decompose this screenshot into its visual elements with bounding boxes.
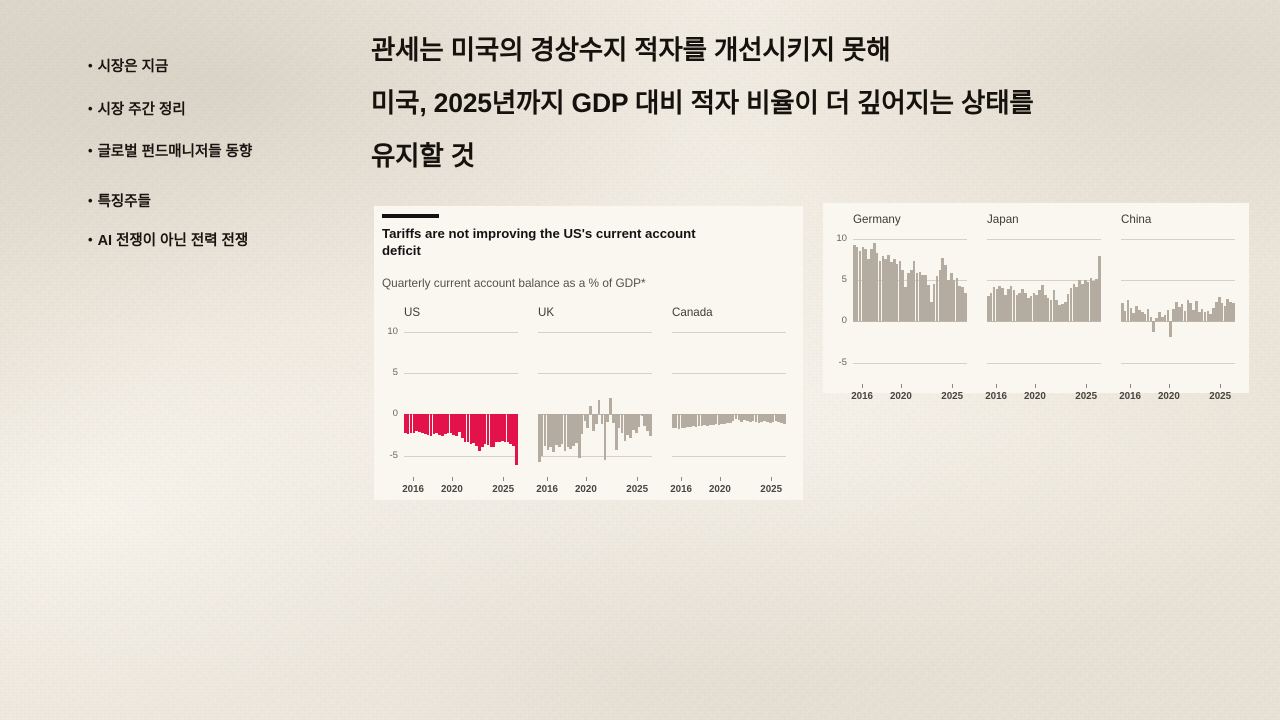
chart-bar	[598, 400, 601, 415]
agenda-bullet-item[interactable]: •시장 주간 정리	[88, 101, 186, 119]
chart-x-tick	[413, 477, 414, 481]
chart-x-tick	[1086, 384, 1087, 388]
headline-line: 미국, 2025년까지 GDP 대비 적자 비율이 더 깊어지는 상태를	[371, 77, 1201, 130]
chart-plot-area	[672, 324, 786, 472]
chart-subtitle: Quarterly current account balance as a %…	[382, 276, 646, 291]
chart-y-tick-label: -5	[378, 451, 398, 461]
chart-x-tick-label: 2016	[851, 391, 873, 402]
chart-card-current-account: Tariffs are not improving the US's curre…	[374, 206, 803, 500]
chart-bar-series	[672, 324, 786, 472]
chart-bar	[1232, 303, 1235, 322]
chart-bar	[1167, 310, 1170, 322]
chart-x-tick	[771, 477, 772, 481]
slide-headline: 관세는 미국의 경상수지 적자를 개선시키지 못해미국, 2025년까지 GDP…	[371, 24, 1201, 183]
agenda-bullet-label: 글로벌 펀드매니저들 동향	[98, 143, 253, 161]
chart-panel-title: US	[404, 306, 420, 320]
chart-panel: Canada201620202025	[672, 306, 786, 484]
chart-x-tick	[720, 477, 721, 481]
chart-x-tick-label: 2020	[709, 484, 731, 495]
chart-bar	[1098, 256, 1101, 322]
chart-bar-series	[1121, 231, 1235, 379]
chart-x-tick	[901, 384, 902, 388]
chart-x-tick-label: 2016	[1119, 391, 1141, 402]
chart-bar	[586, 414, 589, 427]
chart-x-tick-label: 2020	[890, 391, 912, 402]
chart-x-tick-label: 2016	[670, 484, 692, 495]
chart-panel: China201620202025	[1121, 213, 1235, 391]
chart-x-tick	[952, 384, 953, 388]
chart-x-tick-label: 2020	[441, 484, 463, 495]
chart-x-tick-label: 2025	[492, 484, 514, 495]
chart-x-tick	[1220, 384, 1221, 388]
chart-x-tick	[547, 477, 548, 481]
chart-x-tick	[1130, 384, 1131, 388]
chart-y-tick-label: 0	[827, 316, 847, 326]
chart-x-tick-label: 2020	[575, 484, 597, 495]
chart-x-tick	[503, 477, 504, 481]
chart-bar	[783, 414, 786, 424]
economist-rule	[382, 214, 439, 218]
chart-plot-area	[538, 324, 652, 472]
agenda-bullet-label: 시장 주간 정리	[98, 101, 186, 119]
chart-plot-area: 1050-5	[853, 231, 967, 379]
chart-x-tick-label: 2025	[1209, 391, 1231, 402]
chart-y-tick-label: -5	[827, 358, 847, 368]
chart-panel-title: China	[1121, 213, 1151, 227]
chart-bar	[589, 406, 592, 414]
chart-x-tick	[862, 384, 863, 388]
chart-x-tick-label: 2016	[985, 391, 1007, 402]
agenda-bullet-item[interactable]: •특징주들	[88, 193, 151, 211]
chart-x-tick	[637, 477, 638, 481]
chart-bar	[638, 414, 641, 426]
chart-y-tick-label: 0	[378, 409, 398, 419]
chart-bar-series	[987, 231, 1101, 379]
bullet-dot-icon: •	[88, 193, 93, 209]
chart-panel: Japan201620202025	[987, 213, 1101, 391]
chart-y-tick-label: 10	[378, 327, 398, 337]
chart-x-tick-label: 2016	[402, 484, 424, 495]
bullet-dot-icon: •	[88, 101, 93, 117]
chart-bar-series	[538, 324, 652, 472]
chart-x-tick-label: 2025	[1075, 391, 1097, 402]
chart-y-tick-label: 10	[827, 234, 847, 244]
agenda-bullet-label: AI 전쟁이 아닌 전력 전쟁	[98, 232, 249, 250]
chart-bar-series	[853, 231, 967, 379]
agenda-bullet-item[interactable]: •글로벌 펀드매니저들 동향	[88, 143, 252, 161]
chart-bar	[964, 293, 967, 322]
chart-plot-area: 1050-5	[404, 324, 518, 472]
bullet-dot-icon: •	[88, 232, 93, 248]
chart-x-tick-label: 2025	[626, 484, 648, 495]
chart-panel: UK201620202025	[538, 306, 652, 484]
chart-y-tick-label: 5	[378, 368, 398, 378]
chart-panel: Germany1050-5201620202025	[853, 213, 967, 391]
chart-panel-title: Germany	[853, 213, 901, 227]
chart-bar	[1169, 321, 1172, 337]
headline-line: 유지할 것	[371, 130, 1201, 183]
chart-card-surplus-countries: Germany1050-5201620202025Japan2016202020…	[823, 203, 1249, 393]
bullet-dot-icon: •	[88, 143, 93, 159]
chart-x-tick-label: 2016	[536, 484, 558, 495]
chart-panel-title: Canada	[672, 306, 713, 320]
chart-bar	[609, 398, 612, 414]
chart-bar	[595, 414, 598, 424]
chart-bar	[515, 414, 518, 465]
agenda-bullet-label: 특징주들	[98, 193, 151, 211]
chart-x-tick	[681, 477, 682, 481]
chart-y-tick-label: 5	[827, 275, 847, 285]
chart-bar	[606, 414, 609, 421]
chart-plot-area	[987, 231, 1101, 379]
chart-panel: US1050-5201620202025	[404, 306, 518, 484]
chart-panel-title: UK	[538, 306, 554, 320]
chart-x-tick	[1035, 384, 1036, 388]
chart-panel-title: Japan	[987, 213, 1019, 227]
chart-x-tick-label: 2025	[941, 391, 963, 402]
chart-x-tick-label: 2025	[760, 484, 782, 495]
chart-bar	[1152, 321, 1155, 332]
headline-line: 관세는 미국의 경상수지 적자를 개선시키지 못해	[371, 24, 1201, 77]
chart-x-tick	[1169, 384, 1170, 388]
agenda-bullet-item[interactable]: •시장은 지금	[88, 58, 168, 76]
chart-x-tick-label: 2020	[1158, 391, 1180, 402]
chart-x-tick	[452, 477, 453, 481]
chart-plot-area	[1121, 231, 1235, 379]
chart-x-tick	[586, 477, 587, 481]
chart-bar-series	[404, 324, 518, 472]
chart-x-tick	[996, 384, 997, 388]
agenda-bullet-label: 시장은 지금	[98, 58, 169, 76]
bullet-dot-icon: •	[88, 58, 93, 74]
chart-bar	[649, 414, 652, 435]
chart-x-tick-label: 2020	[1024, 391, 1046, 402]
agenda-bullet-item[interactable]: •AI 전쟁이 아닌 전력 전쟁	[88, 232, 248, 250]
chart-title: Tariffs are not improving the US's curre…	[382, 225, 722, 259]
